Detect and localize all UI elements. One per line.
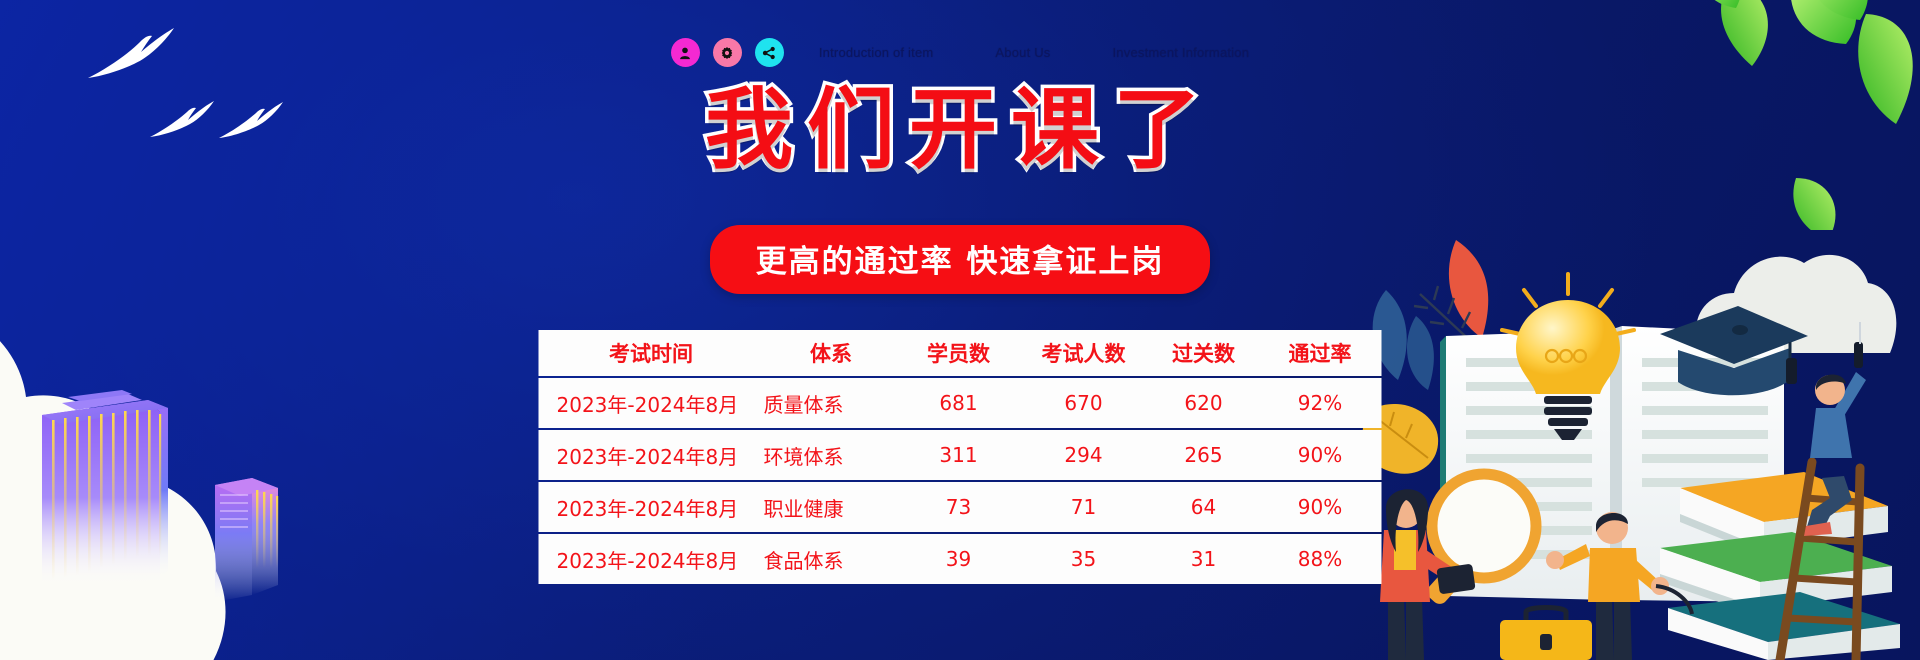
cell-students: 39 <box>899 547 1019 571</box>
user-icon[interactable] <box>671 38 700 67</box>
column-header-passed: 过关数 <box>1149 338 1259 368</box>
subtitle-badge: 更高的通过率 快速拿证上岗 <box>710 225 1211 294</box>
cell-exam-time: 2023年-2024年8月 <box>539 545 764 574</box>
nav-link-introduction-of-item[interactable]: Introduction of item <box>819 45 934 60</box>
cell-exam-count: 71 <box>1019 495 1149 519</box>
share-icon[interactable] <box>755 38 784 67</box>
cell-students: 73 <box>899 495 1019 519</box>
cell-exam-count: 670 <box>1019 391 1149 415</box>
cell-exam-time: 2023年-2024年8月 <box>539 441 764 470</box>
subtitle-container: 更高的通过率 快速拿证上岗 <box>0 225 1920 294</box>
city-buildings-illustration <box>30 370 330 660</box>
education-illustration <box>1360 230 1920 660</box>
cell-system: 质量体系 <box>764 389 899 418</box>
column-header-pass-rate: 通过率 <box>1259 338 1382 368</box>
cell-exam-time: 2023年-2024年8月 <box>539 389 764 418</box>
cell-exam-count: 35 <box>1019 547 1149 571</box>
column-header-students: 学员数 <box>899 338 1019 368</box>
table-header-row: 考试时间 体系 学员数 考试人数 过关数 通过率 <box>539 330 1382 376</box>
column-header-exam-count: 考试人数 <box>1019 338 1149 368</box>
column-header-system: 体系 <box>764 338 899 368</box>
exam-results-table: 考试时间 体系 学员数 考试人数 过关数 通过率 2023年-2024年8月 质… <box>539 330 1382 584</box>
cell-pass-rate: 90% <box>1259 443 1382 467</box>
cell-pass-rate: 90% <box>1259 495 1382 519</box>
table-row: 2023年-2024年8月 食品体系 39 35 31 88% <box>539 534 1382 584</box>
cell-students: 681 <box>899 391 1019 415</box>
cell-exam-count: 294 <box>1019 443 1149 467</box>
page-title: 我们开课了 <box>0 86 1920 174</box>
cell-pass-rate: 92% <box>1259 391 1382 415</box>
nav-link-investment-information[interactable]: Investment Information <box>1113 45 1250 60</box>
cell-pass-rate: 88% <box>1259 547 1382 571</box>
cell-passed: 620 <box>1149 391 1259 415</box>
cloud-shape <box>0 265 320 660</box>
cell-system: 职业健康 <box>764 493 899 522</box>
cell-students: 311 <box>899 443 1019 467</box>
table-row: 2023年-2024年8月 职业健康 73 71 64 90% <box>539 482 1382 532</box>
cell-passed: 265 <box>1149 443 1259 467</box>
cell-passed: 31 <box>1149 547 1259 571</box>
cell-exam-time: 2023年-2024年8月 <box>539 493 764 522</box>
table-row: 2023年-2024年8月 质量体系 681 670 620 92% <box>539 378 1382 428</box>
nav-link-about-us[interactable]: About Us <box>995 45 1050 60</box>
promo-banner: Introduction of item About Us Investment… <box>0 0 1920 660</box>
table-row: 2023年-2024年8月 环境体系 311 294 265 90% <box>539 430 1382 480</box>
column-header-exam-time: 考试时间 <box>539 338 764 368</box>
cell-passed: 64 <box>1149 495 1259 519</box>
gear-icon[interactable] <box>713 38 742 67</box>
cell-system: 食品体系 <box>764 545 899 574</box>
top-navigation: Introduction of item About Us Investment… <box>0 38 1920 67</box>
nav-links: Introduction of item About Us Investment… <box>819 45 1249 60</box>
cell-system: 环境体系 <box>764 441 899 470</box>
